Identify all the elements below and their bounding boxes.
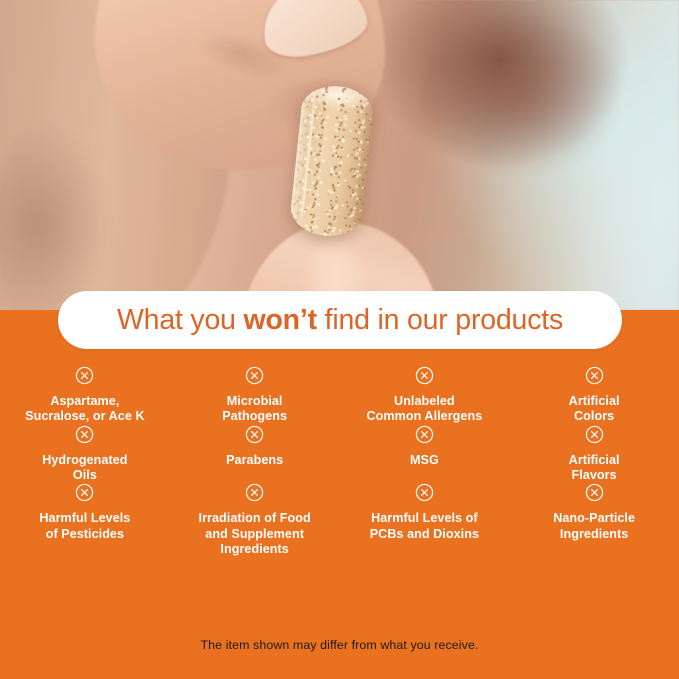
circle-x-icon — [585, 483, 604, 502]
circle-x-icon — [245, 483, 264, 502]
list-item: Artificial Colors — [509, 366, 679, 425]
circle-x-icon — [245, 425, 264, 444]
list-item-label: MSG — [410, 453, 439, 468]
list-item-label: Harmful Levels of PCBs and Dioxins — [370, 511, 479, 542]
list-item: Unlabeled Common Allergens — [340, 366, 510, 425]
list-item: Artificial Flavors — [509, 425, 679, 484]
list-item: Nano-Particle Ingredients — [509, 483, 679, 557]
circle-x-icon — [75, 483, 94, 502]
list-item: Hydrogenated Oils — [0, 425, 170, 484]
headline-part-2: find in our products — [317, 304, 563, 336]
list-item: Harmful Levels of Pesticides — [0, 483, 170, 557]
list-item-label: Artificial Flavors — [569, 453, 620, 484]
list-item: Irradiation of Food and Supplement Ingre… — [170, 483, 340, 557]
list-item-label: Unlabeled Common Allergens — [366, 394, 482, 425]
headline-emphasis: won’t — [244, 304, 317, 336]
circle-x-icon — [585, 425, 604, 444]
list-item: Aspartame, Sucralose, or Ace K — [0, 366, 170, 425]
list-item-label: Artificial Colors — [569, 394, 620, 425]
page-title: What you won’t find in our products — [117, 306, 563, 335]
list-item-label: Nano-Particle Ingredients — [553, 511, 635, 542]
circle-x-icon — [75, 425, 94, 444]
list-item: Harmful Levels of PCBs and Dioxins — [340, 483, 510, 557]
headline-part-1: What you — [117, 304, 244, 336]
circle-x-icon — [415, 483, 434, 502]
excluded-ingredients-grid: Aspartame, Sucralose, or Ace K Microbial… — [0, 366, 679, 558]
list-item: Parabens — [170, 425, 340, 484]
list-item-label: Harmful Levels of Pesticides — [39, 511, 130, 542]
product-infographic: What you won’t find in our products Aspa… — [0, 0, 679, 679]
headline-pill: What you won’t find in our products — [58, 291, 622, 349]
list-item-label: Parabens — [226, 453, 283, 468]
circle-x-icon — [415, 366, 434, 385]
disclaimer-text: The item shown may differ from what you … — [0, 638, 679, 652]
list-item-label: Microbial Pathogens — [222, 394, 287, 425]
product-photo — [0, 0, 679, 310]
list-item: MSG — [340, 425, 510, 484]
list-item-label: Hydrogenated Oils — [42, 453, 127, 484]
circle-x-icon — [415, 425, 434, 444]
list-item-label: Irradiation of Food and Supplement Ingre… — [199, 511, 311, 557]
circle-x-icon — [75, 366, 94, 385]
circle-x-icon — [585, 366, 604, 385]
list-item: Microbial Pathogens — [170, 366, 340, 425]
list-item-label: Aspartame, Sucralose, or Ace K — [25, 394, 144, 425]
circle-x-icon — [245, 366, 264, 385]
